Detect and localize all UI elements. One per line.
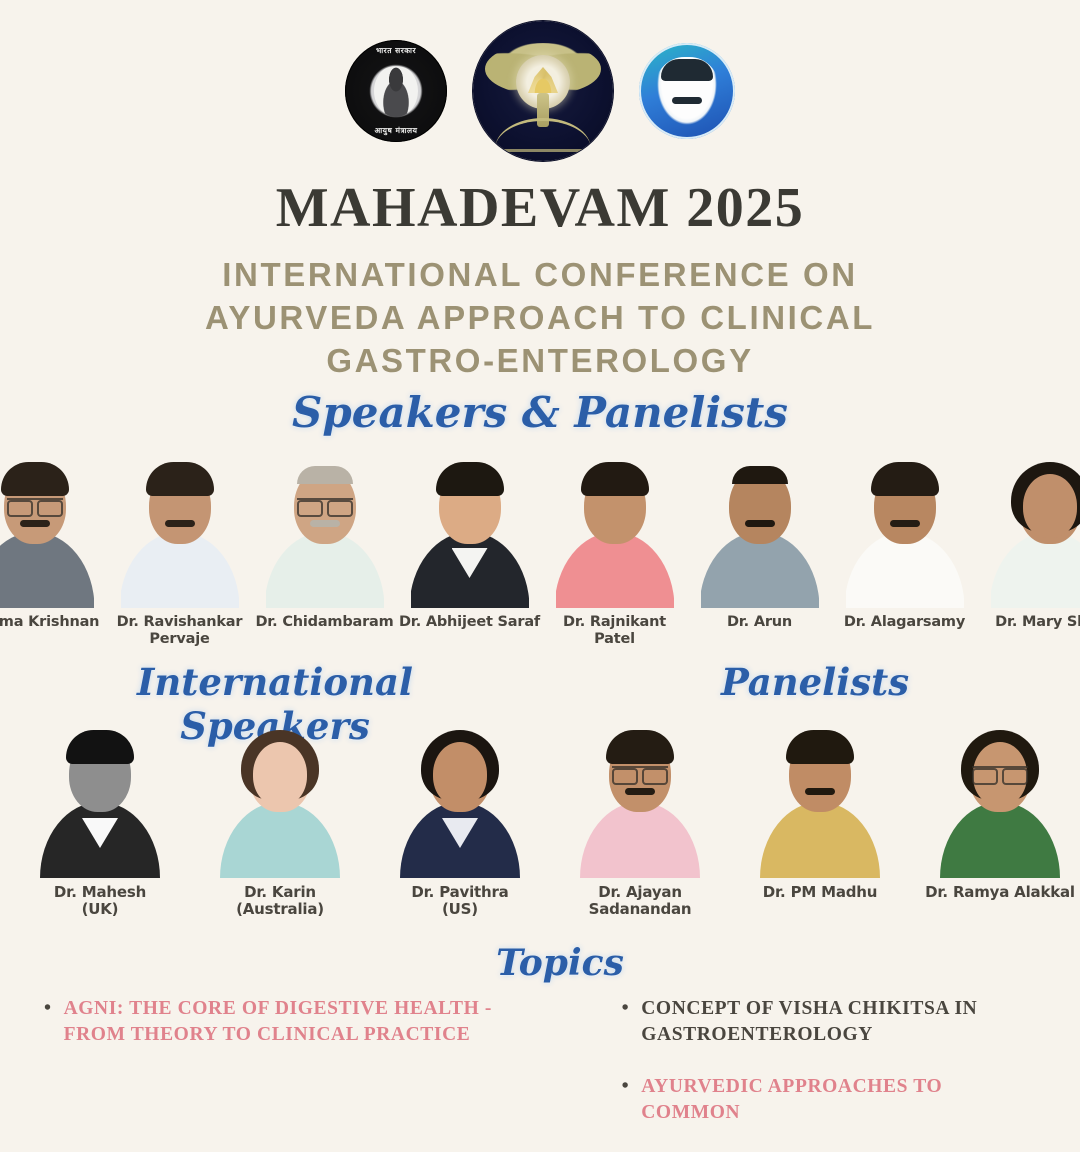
portrait-ring-text [644, 48, 730, 134]
portrait-torso [577, 802, 703, 878]
portrait-glasses [297, 498, 353, 514]
portrait-hair [297, 466, 353, 484]
person-name: Dr. Ajayan Sadanandan [589, 884, 692, 918]
topics-heading: Topics [435, 942, 685, 984]
topic-text: AYURVEDIC APPROACHES TO COMMON [641, 1074, 1041, 1126]
government-emblem-logo: भारत सरकार आयुष मंत्रालय [345, 40, 447, 142]
person-name: Dr. Mary Shar [995, 614, 1080, 631]
speakers-row: Syama KrishnanDr. Ravishankar PervajeDr.… [0, 460, 1080, 648]
portrait-photo [35, 728, 165, 878]
portrait-hair [871, 462, 939, 496]
person-card: Dr. Karin (Australia) [190, 728, 370, 918]
portrait-torso [937, 802, 1063, 878]
topic-item: •AGNI: THE CORE OF DIGESTIVE HEALTH - FR… [44, 996, 514, 1048]
subtitle-line-3: GASTRO-ENTEROLOGY [0, 339, 1080, 382]
portrait-photo [0, 460, 94, 608]
person-name: Dr. Ramya Alakkal [925, 884, 1075, 901]
government-emblem-bottom-text: आयुष मंत्रालय [347, 126, 445, 136]
portrait-moustache [890, 520, 920, 527]
topics-right-column: •CONCEPT OF VISHA CHIKITSA IN GASTROENTE… [622, 996, 1080, 1152]
topics-left-column: •AGNI: THE CORE OF DIGESTIVE HEALTH - FR… [0, 996, 560, 1152]
portrait-moustache [310, 520, 340, 527]
portrait-hair [732, 466, 788, 484]
portrait-photo [411, 460, 529, 608]
government-emblem-ring-text: भारत सरकार आयुष मंत्रालय [347, 42, 445, 140]
portrait-torso [0, 532, 94, 608]
person-name: Dr. Chidambaram [255, 614, 393, 631]
portrait-glasses [972, 766, 1028, 782]
portrait-hair [786, 730, 854, 764]
portrait-torso [217, 802, 343, 878]
portrait-torso [991, 532, 1080, 608]
portrait-photo [991, 460, 1080, 608]
person-name: Dr. Ravishankar Pervaje [107, 614, 252, 648]
person-card: Dr. Ajayan Sadanandan [550, 728, 730, 918]
portrait-hair [66, 730, 134, 764]
portrait-hair [1, 462, 69, 496]
portrait-moustache [20, 520, 50, 527]
panelists-row: Dr. Ajayan SadanandanDr. PM MadhuDr. Ram… [550, 728, 1080, 918]
bullet-icon: • [622, 1074, 630, 1126]
bullet-icon: • [44, 996, 52, 1048]
portrait-photo [395, 728, 525, 878]
person-card: Dr. Pavithra (US) [370, 728, 550, 918]
portrait-torso [757, 802, 883, 878]
portrait-photo [755, 728, 885, 878]
person-card: Dr. Abhijeet Saraf [397, 460, 542, 631]
topic-text: CONCEPT OF VISHA CHIKITSA IN GASTROENTER… [641, 996, 1041, 1048]
tree-roots-icon [495, 118, 591, 149]
person-name: Dr. Karin (Australia) [236, 884, 324, 918]
person-name: Dr. Arun [727, 614, 792, 631]
person-name: Dr. Mahesh (UK) [54, 884, 146, 918]
person-card: Dr. Rajnikant Patel [542, 460, 687, 648]
portrait-glasses [7, 498, 63, 514]
person-card: Dr. Arun [687, 460, 832, 631]
speakers-and-panelists-heading: Speakers & Panelists [0, 388, 1080, 437]
person-card: Dr. Alagarsamy [832, 460, 977, 631]
panelists-heading: Panelists [690, 660, 940, 704]
topic-item: •AYURVEDIC APPROACHES TO COMMON [622, 1074, 1042, 1126]
person-name: Dr. Rajnikant Patel [542, 614, 687, 648]
conference-subtitle: INTERNATIONAL CONFERENCE ON AYURVEDA APP… [0, 253, 1080, 382]
portrait-photo [935, 728, 1065, 878]
portrait-face [433, 742, 487, 806]
international-speakers-row: Dr. Mahesh (UK)Dr. Karin (Australia)Dr. … [10, 728, 540, 918]
person-name: Dr. PM Madhu [763, 884, 878, 901]
portrait-hair [606, 730, 674, 764]
person-card: Syama Krishnan [0, 460, 107, 631]
person-card: Dr. Chidambaram [252, 460, 397, 631]
portrait-moustache [745, 520, 775, 527]
dr-l-mahadevan-portrait-logo [639, 43, 735, 139]
portrait-hair [581, 462, 649, 496]
subtitle-line-2: AYURVEDA APPROACH TO CLINICAL [0, 296, 1080, 339]
portrait-photo [701, 460, 819, 608]
portrait-photo [266, 460, 384, 608]
mahadevam-tree-logo [473, 21, 613, 161]
topic-text: AGNI: THE CORE OF DIGESTIVE HEALTH - FRO… [64, 996, 514, 1048]
logo-row: भारत सरकार आयुष मंत्रालय [0, 16, 1080, 166]
portrait-moustache [805, 788, 835, 795]
person-card: Dr. Mary Shar [977, 460, 1080, 631]
person-card: Dr. Ravishankar Pervaje [107, 460, 252, 648]
portrait-moustache [165, 520, 195, 527]
bullet-icon: • [622, 996, 630, 1048]
portrait-photo [846, 460, 964, 608]
portrait-photo [121, 460, 239, 608]
portrait-hair [436, 462, 504, 496]
person-name: Syama Krishnan [0, 614, 99, 631]
person-card: Dr. PM Madhu [730, 728, 910, 901]
person-name: Dr. Alagarsamy [844, 614, 965, 631]
person-name: Dr. Abhijeet Saraf [399, 614, 540, 631]
portrait-glasses [612, 766, 668, 782]
page-title: MAHADEVAM 2025 [0, 176, 1080, 240]
topic-item: •CONCEPT OF VISHA CHIKITSA IN GASTROENTE… [622, 996, 1042, 1048]
person-name: Dr. Pavithra (US) [411, 884, 508, 918]
person-card: Dr. Ramya Alakkal [910, 728, 1080, 901]
portrait-hair [146, 462, 214, 496]
portrait-photo [215, 728, 345, 878]
topics-section: •AGNI: THE CORE OF DIGESTIVE HEALTH - FR… [0, 996, 1080, 1152]
portrait-face [1023, 474, 1077, 538]
portrait-photo [575, 728, 705, 878]
person-card: Dr. Mahesh (UK) [10, 728, 190, 918]
portrait-face [253, 742, 307, 806]
subtitle-line-1: INTERNATIONAL CONFERENCE ON [0, 253, 1080, 296]
portrait-moustache [625, 788, 655, 795]
portrait-photo [556, 460, 674, 608]
government-emblem-top-text: भारत सरकार [347, 46, 445, 56]
